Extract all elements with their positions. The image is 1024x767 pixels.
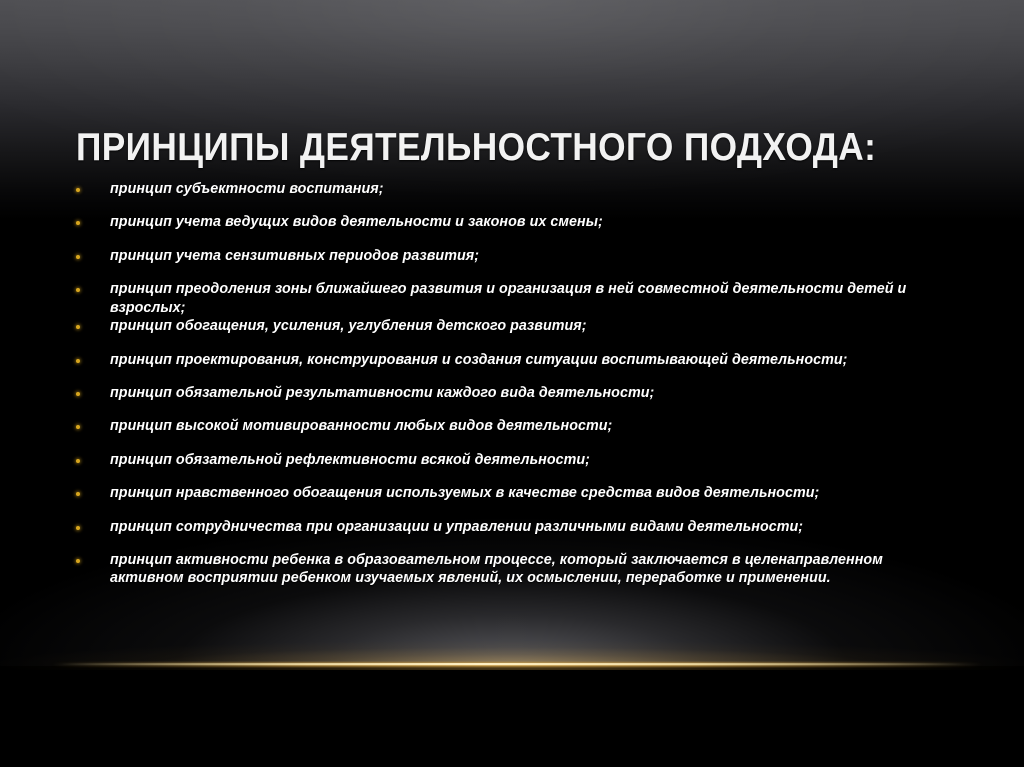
bullet-dot-icon	[76, 255, 80, 259]
bullet-dot-icon	[76, 288, 80, 292]
list-item: принцип учета ведущих видов деятельности…	[0, 213, 1024, 246]
list-item: принцип активности ребенка в образовател…	[0, 551, 1024, 588]
bullet-dot-icon	[76, 359, 80, 363]
bullet-dot-icon	[76, 559, 80, 563]
list-item: принцип сотрудничества при организации и…	[0, 518, 1024, 551]
list-item-text: принцип преодоления зоны ближайшего разв…	[110, 280, 950, 317]
list-item-text: принцип учета сензитивных периодов разви…	[110, 247, 948, 266]
list-item-text: принцип учета ведущих видов деятельности…	[110, 213, 948, 232]
list-item-text: принцип обязательной результативности ка…	[110, 384, 948, 403]
slide-content: ПРИНЦИПЫ ДЕЯТЕЛЬНОСТНОГО ПОДХОДА: принци…	[0, 0, 1024, 767]
list-item-text: принцип проектирования, конструирования …	[110, 351, 948, 370]
bullet-dot-icon	[76, 221, 80, 225]
list-item-text: принцип активности ребенка в образовател…	[110, 551, 950, 588]
presentation-slide: ПРИНЦИПЫ ДЕЯТЕЛЬНОСТНОГО ПОДХОДА: принци…	[0, 0, 1024, 767]
list-item-text: принцип сотрудничества при организации и…	[110, 518, 948, 537]
bullet-dot-icon	[76, 425, 80, 429]
list-item: принцип обязательной результативности ка…	[0, 384, 1024, 417]
list-item: принцип преодоления зоны ближайшего разв…	[0, 280, 1024, 317]
list-item-text: принцип обязательной рефлективности всяк…	[110, 451, 948, 470]
bullet-dot-icon	[76, 459, 80, 463]
list-item: принцип учета сензитивных периодов разви…	[0, 247, 1024, 280]
list-item-text: принцип нравственного обогащения использ…	[110, 484, 948, 503]
list-item: принцип проектирования, конструирования …	[0, 351, 1024, 384]
list-item-text: принцип субъектности воспитания;	[110, 180, 948, 199]
list-item-text: принцип обогащения, усиления, углубления…	[110, 317, 948, 336]
list-item: принцип обогащения, усиления, углубления…	[0, 317, 1024, 350]
bullet-dot-icon	[76, 325, 80, 329]
list-item: принцип обязательной рефлективности всяк…	[0, 451, 1024, 484]
list-item: принцип субъектности воспитания;	[0, 180, 1024, 213]
bullet-dot-icon	[76, 188, 80, 192]
bullet-dot-icon	[76, 492, 80, 496]
principles-list: принцип субъектности воспитания; принцип…	[0, 180, 1024, 588]
list-item: принцип нравственного обогащения использ…	[0, 484, 1024, 517]
list-item-text: принцип высокой мотивированности любых в…	[110, 417, 948, 436]
list-item: принцип высокой мотивированности любых в…	[0, 417, 1024, 450]
bullet-dot-icon	[76, 526, 80, 530]
bullet-dot-icon	[76, 392, 80, 396]
slide-title: ПРИНЦИПЫ ДЕЯТЕЛЬНОСТНОГО ПОДХОДА:	[76, 126, 872, 170]
